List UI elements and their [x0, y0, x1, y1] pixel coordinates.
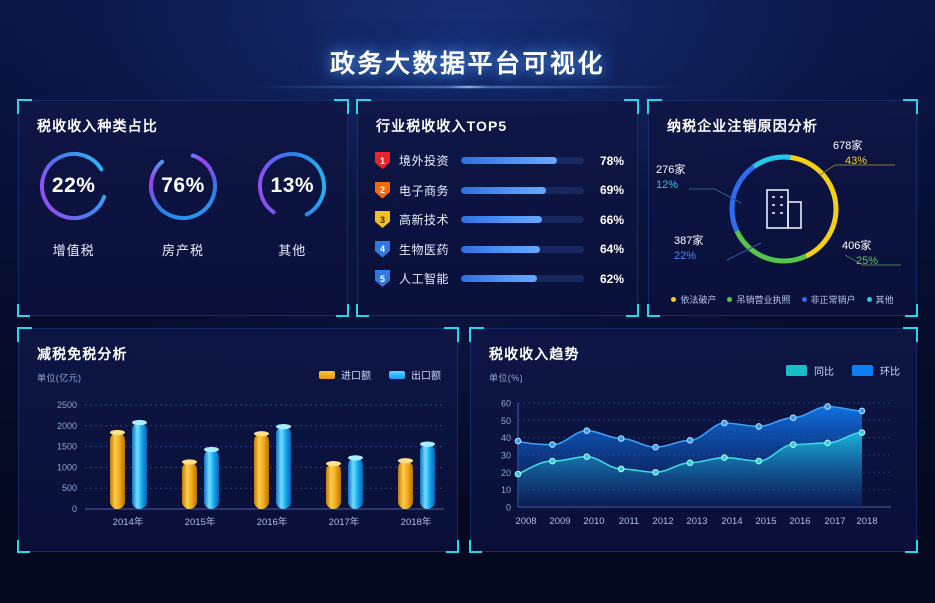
legend-swatch [867, 297, 872, 302]
gauge-label: 增值税 [28, 240, 120, 259]
legend-swatch [389, 371, 405, 379]
list-item[interactable]: 4 生物医药 64% [375, 235, 624, 264]
segment-percent: 43% [845, 155, 867, 167]
panel-tax-reduction-analysis: 减税免税分析 单位(亿元) 进口额 出口额 250020001500 10005… [18, 328, 458, 552]
rank-label: 电子商务 [399, 182, 457, 199]
legend-label: 进口额 [341, 367, 371, 382]
rank-label: 生物医药 [399, 241, 457, 258]
svg-text:20: 20 [501, 468, 511, 478]
list-item[interactable]: 1 境外投资 78% [375, 146, 624, 175]
legend-item[interactable]: 非正常销户 [802, 293, 856, 306]
title-glow-divider [248, 86, 688, 88]
building-icon [767, 190, 801, 228]
legend-swatch [319, 371, 335, 379]
bar-chart-svg[interactable]: 250020001500 10005000 [19, 387, 459, 547]
svg-text:2008: 2008 [515, 516, 536, 527]
gauge-row: 22% 增值税 76% 房产税 [19, 147, 347, 259]
rank-list: 1 境外投资 78% 2 电子商务 69% 3 高新技术 66% 4 生物医药 … [375, 146, 624, 294]
legend-label: 同比 [814, 363, 834, 378]
rank-percent: 62% [592, 272, 624, 286]
donut-label-group: 406家 25% [842, 237, 878, 267]
list-item[interactable]: 3 高新技术 66% [375, 205, 624, 234]
list-item[interactable]: 5 人工智能 62% [375, 264, 624, 293]
legend-label: 吊销营业执照 [736, 295, 790, 305]
rank-percent: 64% [592, 242, 624, 256]
svg-text:2018: 2018 [856, 516, 877, 527]
svg-text:40: 40 [501, 433, 511, 443]
rank-bar-fill [461, 246, 540, 253]
rank-label: 人工智能 [399, 270, 457, 287]
panel-cancellation-reason: 纳税企业注销原因分析 [648, 100, 917, 316]
legend-item[interactable]: 其他 [867, 293, 894, 306]
svg-text:500: 500 [62, 483, 77, 493]
rank-bar-track [461, 216, 584, 223]
panel-title: 行业税收收入TOP5 [376, 116, 507, 136]
rank-badge-icon: 2 [375, 182, 390, 199]
svg-text:0: 0 [506, 502, 511, 512]
svg-text:2010: 2010 [583, 516, 604, 527]
svg-text:30: 30 [501, 451, 511, 461]
segment-count: 276家 [656, 161, 685, 177]
rank-bar-fill [461, 275, 537, 282]
rank-bar-track [461, 275, 584, 282]
legend-item[interactable]: 依法破产 [671, 293, 716, 306]
panel-title: 税收收入趋势 [489, 344, 580, 364]
rank-badge-icon: 1 [375, 152, 390, 169]
chart-legend: 进口额 出口额 [319, 367, 441, 382]
gauge-value: 13% [253, 147, 331, 225]
panel-industry-top5: 行业税收收入TOP5 1 境外投资 78% 2 电子商务 69% 3 高新技术 … [357, 100, 638, 316]
svg-text:50: 50 [501, 416, 511, 426]
panel-tax-revenue-trend: 税收收入趋势 单位(%) 同比 环比 605040 3020100 [470, 328, 917, 552]
rank-badge-icon: 5 [375, 270, 390, 287]
rank-bar-track [461, 246, 584, 253]
svg-text:1000: 1000 [57, 462, 77, 472]
gauge-item[interactable]: 13% 其他 [246, 147, 338, 259]
rank-label: 高新技术 [399, 211, 457, 228]
legend-label: 其他 [876, 295, 894, 305]
panel-title: 税收收入种类占比 [37, 116, 158, 136]
rank-badge-icon: 3 [375, 211, 390, 228]
legend-label: 非正常销户 [811, 295, 856, 305]
gauge-ring: 22% [35, 147, 113, 225]
donut-label-group: 678家 43% [833, 137, 867, 167]
svg-text:2011: 2011 [619, 516, 639, 527]
legend-label: 环比 [880, 363, 900, 378]
rank-label: 境外投资 [399, 152, 457, 169]
panel-title: 减税免税分析 [37, 344, 128, 364]
rank-bar-fill [461, 157, 557, 164]
svg-text:2015: 2015 [755, 516, 776, 527]
legend-item[interactable]: 吊销营业执照 [727, 293, 790, 306]
list-item[interactable]: 2 电子商务 69% [375, 176, 624, 205]
segment-count: 678家 [833, 137, 867, 153]
svg-text:2009: 2009 [549, 516, 570, 527]
svg-text:2016年: 2016年 [257, 516, 288, 528]
segment-count: 387家 [674, 232, 703, 248]
legend-item[interactable]: 环比 [852, 363, 900, 378]
legend-swatch [671, 297, 676, 302]
axis-unit-label: 单位(亿元) [37, 371, 81, 384]
axis-unit-label: 单位(%) [489, 371, 523, 384]
area-chart-svg[interactable]: 605040 3020100 20 [471, 387, 918, 547]
svg-text:60: 60 [501, 399, 511, 409]
segment-percent: 12% [656, 179, 685, 191]
gauge-label: 其他 [246, 240, 338, 259]
legend-swatch [802, 297, 807, 302]
legend-label: 出口额 [411, 367, 441, 382]
svg-text:2013: 2013 [686, 516, 707, 527]
donut-label-group: 387家 22% [674, 232, 703, 262]
gauge-ring: 13% [253, 147, 331, 225]
donut-legend: 依法破产 吊销营业执照 非正常销户 其他 [649, 293, 916, 306]
svg-text:10: 10 [501, 485, 511, 495]
gauge-value: 76% [144, 147, 222, 225]
legend-swatch [786, 365, 807, 376]
panel-tax-type-ratio: 税收收入种类占比 22% 增值税 [18, 100, 348, 316]
rank-bar-fill [461, 187, 546, 194]
legend-item[interactable]: 同比 [786, 363, 834, 378]
svg-text:2018年: 2018年 [401, 516, 432, 528]
svg-text:2015年: 2015年 [185, 516, 216, 528]
rank-percent: 69% [592, 183, 624, 197]
gauge-value: 22% [35, 147, 113, 225]
legend-label: 依法破产 [680, 295, 716, 305]
svg-text:2500: 2500 [57, 400, 77, 410]
svg-text:2014年: 2014年 [113, 516, 144, 528]
rank-bar-track [461, 157, 584, 164]
svg-text:2012: 2012 [652, 516, 673, 527]
legend-swatch [852, 365, 873, 376]
svg-text:2017: 2017 [824, 516, 845, 527]
rank-bar-fill [461, 216, 542, 223]
legend-item[interactable]: 出口额 [389, 367, 441, 382]
svg-text:2014: 2014 [721, 516, 742, 527]
legend-swatch [727, 297, 732, 302]
svg-text:2016: 2016 [789, 516, 810, 527]
svg-text:2000: 2000 [57, 421, 77, 431]
rank-percent: 78% [592, 154, 624, 168]
svg-text:1500: 1500 [57, 442, 77, 452]
segment-percent: 22% [674, 250, 703, 262]
rank-percent: 66% [592, 213, 624, 227]
svg-text:2017年: 2017年 [329, 516, 360, 528]
legend-item[interactable]: 进口额 [319, 367, 371, 382]
gauge-ring: 76% [144, 147, 222, 225]
page-title: 政务大数据平台可视化 [0, 44, 935, 80]
segment-count: 406家 [842, 237, 878, 253]
donut-chart[interactable]: 678家 43% 406家 25% 387家 22% 276家 12% [649, 127, 916, 287]
segment-percent: 25% [856, 255, 878, 267]
chart-legend: 同比 环比 [786, 363, 900, 378]
gauge-label: 房产税 [137, 240, 229, 259]
svg-text:0: 0 [72, 504, 77, 514]
rank-badge-icon: 4 [375, 241, 390, 258]
donut-label-group: 276家 12% [656, 161, 685, 191]
rank-bar-track [461, 187, 584, 194]
gauge-item[interactable]: 22% 增值税 [28, 147, 120, 259]
gauge-item[interactable]: 76% 房产税 [137, 147, 229, 259]
